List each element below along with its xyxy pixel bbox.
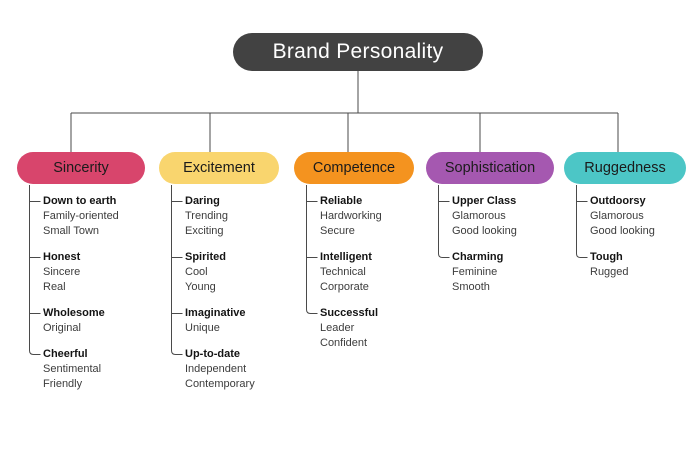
facet-trait: Family-oriented <box>43 209 119 224</box>
facet-group: Upper ClassGlamorousGood looking <box>452 194 517 239</box>
facet-group: ReliableHardworkingSecure <box>320 194 382 239</box>
facet-title: Successful <box>320 306 382 321</box>
facet-list: Upper ClassGlamorousGood lookingCharming… <box>452 194 517 295</box>
dimension-pill-excitement[interactable]: Excitement <box>159 152 279 184</box>
facet-trait: Small Town <box>43 224 119 239</box>
root-node-brand-personality: Brand Personality <box>233 33 483 71</box>
facet-list: OutdoorsyGlamorousGood lookingToughRugge… <box>590 194 655 280</box>
facet-trait: Young <box>185 280 255 295</box>
facet-group: SpiritedCoolYoung <box>185 250 255 295</box>
facet-title: Cheerful <box>43 347 119 362</box>
facet-trait: Trending <box>185 209 255 224</box>
brand-personality-diagram: Brand Personality SincerityDown to earth… <box>0 0 700 450</box>
facet-trait: Cool <box>185 265 255 280</box>
dimension-column-ruggedness: RuggednessOutdoorsyGlamorousGood looking… <box>564 152 686 184</box>
facet-trait: Exciting <box>185 224 255 239</box>
dimension-pill-competence[interactable]: Competence <box>294 152 414 184</box>
facet-trait: Glamorous <box>452 209 517 224</box>
facet-group: ToughRugged <box>590 250 655 280</box>
facet-group: Down to earthFamily-orientedSmall Town <box>43 194 119 239</box>
facet-title: Wholesome <box>43 306 119 321</box>
facet-spine-excitement <box>172 185 183 355</box>
facet-group: CharmingFeminineSmooth <box>452 250 517 295</box>
dimension-column-excitement: ExcitementDaringTrendingExcitingSpirited… <box>159 152 279 184</box>
facet-group: HonestSincereReal <box>43 250 119 295</box>
facet-group: WholesomeOriginal <box>43 306 119 336</box>
facet-group: IntelligentTechnicalCorporate <box>320 250 382 295</box>
facet-trait: Hardworking <box>320 209 382 224</box>
facet-trait: Real <box>43 280 119 295</box>
facet-title: Charming <box>452 250 517 265</box>
dimension-label: Sophistication <box>445 160 535 176</box>
facet-trait: Corporate <box>320 280 382 295</box>
facet-title: Spirited <box>185 250 255 265</box>
dimension-label: Excitement <box>183 160 255 176</box>
dimension-label: Sincerity <box>53 160 109 176</box>
facet-trait: Independent <box>185 362 255 377</box>
dimension-label: Competence <box>313 160 395 176</box>
facet-trait: Leader <box>320 321 382 336</box>
facet-title: Daring <box>185 194 255 209</box>
facet-title: Imaginative <box>185 306 255 321</box>
facet-list: ReliableHardworkingSecureIntelligentTech… <box>320 194 382 351</box>
facet-trait: Secure <box>320 224 382 239</box>
facet-spine-ruggedness <box>577 185 588 258</box>
facet-title: Down to earth <box>43 194 119 209</box>
facet-spine-sophistication <box>439 185 450 258</box>
facet-trait: Sincere <box>43 265 119 280</box>
facet-trait: Feminine <box>452 265 517 280</box>
facet-group: ImaginativeUnique <box>185 306 255 336</box>
facet-trait: Technical <box>320 265 382 280</box>
dimension-column-sophistication: SophisticationUpper ClassGlamorousGood l… <box>426 152 554 184</box>
facet-trait: Sentimental <box>43 362 119 377</box>
facet-trait: Confident <box>320 336 382 351</box>
facet-trait: Rugged <box>590 265 655 280</box>
facet-title: Tough <box>590 250 655 265</box>
facet-trait: Contemporary <box>185 377 255 392</box>
facet-title: Intelligent <box>320 250 382 265</box>
facet-title: Outdoorsy <box>590 194 655 209</box>
facet-trait: Glamorous <box>590 209 655 224</box>
facet-trait: Good looking <box>452 224 517 239</box>
dimension-pill-ruggedness[interactable]: Ruggedness <box>564 152 686 184</box>
facet-spine-sincerity <box>30 185 41 355</box>
dimension-pill-sophistication[interactable]: Sophistication <box>426 152 554 184</box>
facet-group: Up-to-dateIndependentContemporary <box>185 347 255 392</box>
facet-list: DaringTrendingExcitingSpiritedCoolYoungI… <box>185 194 255 392</box>
dimension-label: Ruggedness <box>584 160 665 176</box>
facet-title: Upper Class <box>452 194 517 209</box>
root-node-label: Brand Personality <box>273 40 444 64</box>
dimension-column-sincerity: SincerityDown to earthFamily-orientedSma… <box>17 152 145 184</box>
facet-group: SuccessfulLeaderConfident <box>320 306 382 351</box>
dimension-column-competence: CompetenceReliableHardworkingSecureIntel… <box>294 152 414 184</box>
facet-trait: Good looking <box>590 224 655 239</box>
facet-title: Up-to-date <box>185 347 255 362</box>
facet-group: CheerfulSentimentalFriendly <box>43 347 119 392</box>
facet-title: Reliable <box>320 194 382 209</box>
facet-group: OutdoorsyGlamorousGood looking <box>590 194 655 239</box>
facet-trait: Unique <box>185 321 255 336</box>
facet-trait: Friendly <box>43 377 119 392</box>
dimension-pill-sincerity[interactable]: Sincerity <box>17 152 145 184</box>
facet-title: Honest <box>43 250 119 265</box>
facet-list: Down to earthFamily-orientedSmall TownHo… <box>43 194 119 392</box>
facet-group: DaringTrendingExciting <box>185 194 255 239</box>
facet-trait: Original <box>43 321 119 336</box>
facet-spine-competence <box>307 185 318 314</box>
facet-trait: Smooth <box>452 280 517 295</box>
